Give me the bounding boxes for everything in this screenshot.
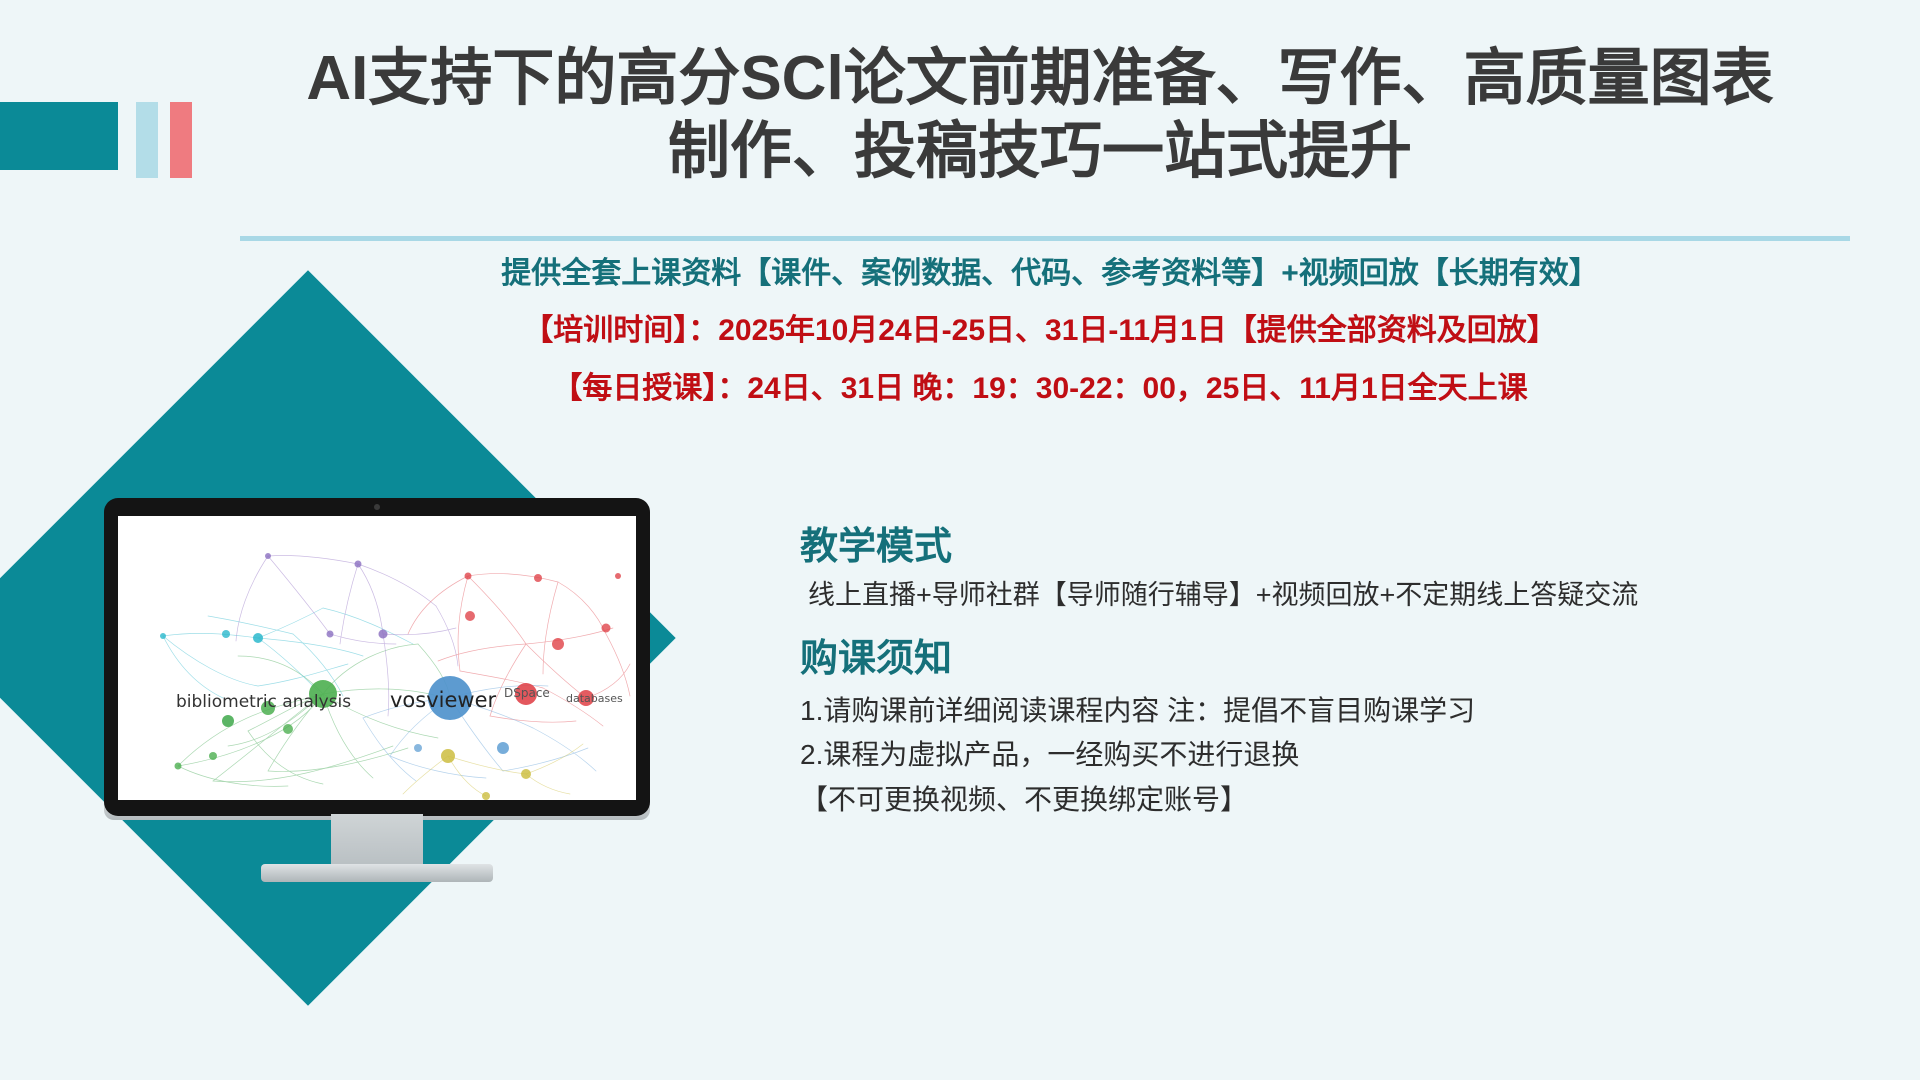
monitor-screen: bibliometric analysis vosviewer DSpace d… <box>118 516 636 800</box>
page-title: AI支持下的高分SCl论文前期准备、写作、高质量图表 制作、投稿技巧一站式提升 <box>230 42 1850 188</box>
graph-node <box>465 573 472 580</box>
graph-node <box>379 630 388 639</box>
graph-node <box>521 769 531 779</box>
title-line-1: AI支持下的高分SCl论文前期准备、写作、高质量图表 <box>230 42 1850 115</box>
title-line-2: 制作、投稿技巧一站式提升 <box>230 115 1850 188</box>
graph-node <box>261 701 275 715</box>
purchase-notice-heading: 购课须知 <box>800 634 1890 685</box>
corner-mark-lightblue <box>136 102 158 178</box>
vosviewer-network-graph <box>118 516 636 800</box>
graph-node <box>552 638 564 650</box>
corner-mark-teal <box>0 102 118 170</box>
graph-node <box>441 749 455 763</box>
teaching-mode-section: 教学模式 线上直播+导师社群【导师随行辅导】+视频回放+不定期线上答疑交流 <box>800 522 1890 616</box>
graph-node <box>515 683 537 705</box>
daily-class-text: 【每日授课】：24日、31日 晚：19：30-22：00，25日、11月1日全天… <box>230 368 1850 410</box>
graph-node <box>253 633 263 643</box>
graph-node <box>283 724 293 734</box>
monitor-stand-neck <box>331 814 423 866</box>
corner-mark-pink <box>170 102 192 178</box>
list-item: 2.课程为虚拟产品，一经购买不进行退换 <box>800 733 1890 777</box>
graph-node <box>355 561 362 568</box>
content-column: 教学模式 线上直播+导师社群【导师随行辅导】+视频回放+不定期线上答疑交流 购课… <box>800 522 1890 822</box>
graph-node <box>497 742 509 754</box>
graph-node <box>482 792 490 800</box>
header-divider <box>240 236 1850 241</box>
graph-node <box>465 611 475 621</box>
graph-node <box>160 633 166 639</box>
graph-node <box>209 752 217 760</box>
graph-node <box>327 631 334 638</box>
graph-node <box>175 763 182 770</box>
graph-node <box>428 676 472 720</box>
graph-node <box>534 574 542 582</box>
training-time-text: 【培训时间】：2025年10月24日-25日、31日-11月1日【提供全部资料及… <box>230 310 1850 352</box>
graph-node <box>602 624 611 633</box>
purchase-notice-list: 1.请购课前详细阅读课程内容 注：提倡不盲目购课学习 2.课程为虚拟产品，一经购… <box>800 689 1890 822</box>
subtitle-text: 提供全套上课资料【课件、案例数据、代码、参考资料等】+视频回放【长期有效】 <box>240 252 1860 296</box>
monitor-stand-base <box>261 864 493 882</box>
graph-node <box>414 744 422 752</box>
purchase-notice-section: 购课须知 1.请购课前详细阅读课程内容 注：提倡不盲目购课学习 2.课程为虚拟产… <box>800 634 1890 822</box>
webcam-icon <box>374 504 380 510</box>
graph-node <box>309 680 337 708</box>
promo-slide: AI支持下的高分SCl论文前期准备、写作、高质量图表 制作、投稿技巧一站式提升 … <box>0 0 1920 1080</box>
graph-node <box>578 690 594 706</box>
list-item: 【不可更换视频、不更换绑定账号】 <box>800 778 1890 822</box>
graph-node <box>265 553 271 559</box>
teaching-mode-heading: 教学模式 <box>800 522 1890 573</box>
graph-node <box>222 715 234 727</box>
graph-node <box>222 630 230 638</box>
graph-node <box>615 573 621 579</box>
list-item: 1.请购课前详细阅读课程内容 注：提倡不盲目购课学习 <box>800 689 1890 733</box>
monitor-mockup: bibliometric analysis vosviewer DSpace d… <box>104 498 650 828</box>
teaching-mode-body: 线上直播+导师社群【导师随行辅导】+视频回放+不定期线上答疑交流 <box>808 575 1890 616</box>
